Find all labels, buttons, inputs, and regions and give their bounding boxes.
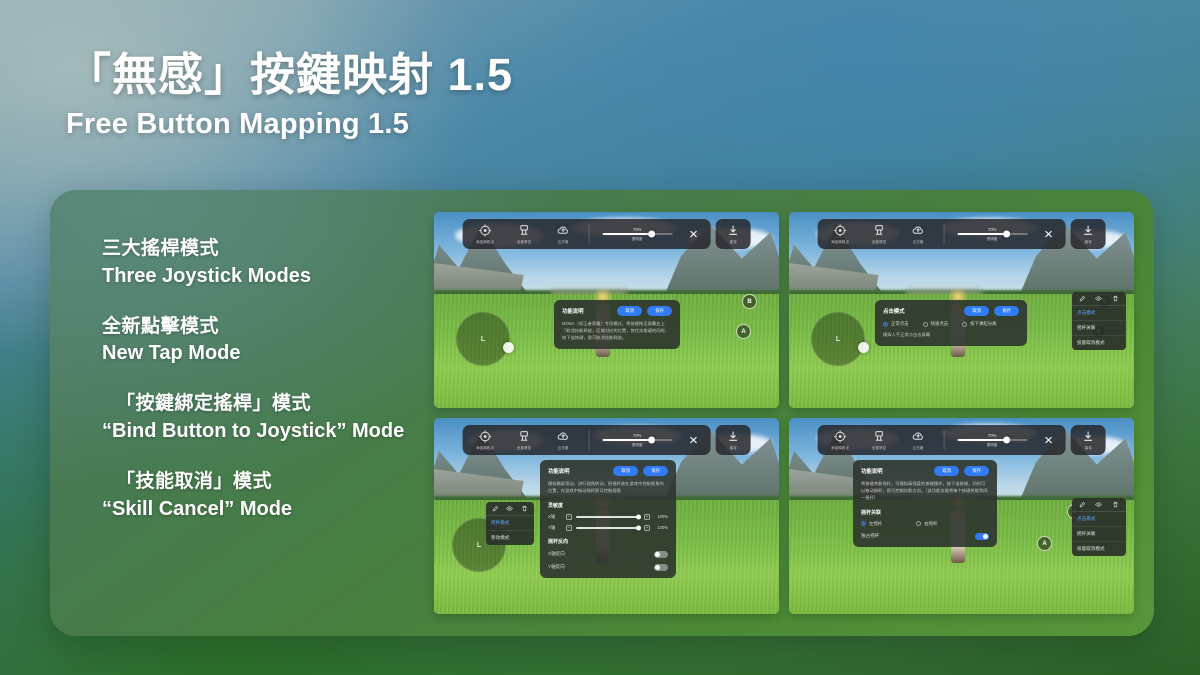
mapping-toolbar: 添加映射点 全部清空 云方案 — [462, 425, 751, 455]
clear-all-icon — [518, 224, 531, 237]
dialog-description: MOBA（如王者荣耀）专用模式，将按键拖至屏幕右上「取消技能释放」区域对应的位置… — [562, 321, 672, 342]
save-button[interactable]: 保存 — [994, 306, 1019, 316]
radio-fast-tap[interactable]: 快速点击 — [923, 321, 949, 327]
feature-label-en: Three Joystick Modes — [102, 264, 432, 288]
reverse-y-row: Y轴反向 — [548, 564, 668, 571]
sensitivity-y-value: 100% — [654, 525, 668, 530]
joystick-link-options: 左摇杆 右摇杆 — [861, 521, 989, 527]
axis-label: X轴 — [548, 514, 562, 520]
feature-label-cn: 三大搖桿模式 — [102, 236, 432, 262]
save-label: 保存 — [730, 239, 737, 244]
add-mapping-point-label: 添加映射点 — [476, 445, 494, 450]
left-joystick-label: L — [477, 542, 481, 549]
opacity-label: 透明度 — [632, 236, 643, 241]
radio-left-joystick[interactable]: 左摇杆 — [861, 521, 882, 527]
context-menu-icons — [1072, 292, 1126, 306]
cancel-button[interactable]: 取消 — [934, 466, 959, 476]
add-mapping-point-button[interactable]: 添加映射点 — [826, 430, 854, 450]
menu-item-skill-cancel-mode[interactable]: 技能取消模式 — [1072, 542, 1126, 556]
opacity-label: 透明度 — [987, 442, 998, 447]
dialog-description: 模拟触屏滑动，进行视角转动，把摇杆放在游戏中控制视角的位置，在游戏中拖动摇杆即可… — [548, 481, 668, 495]
clear-all-button[interactable]: 全部清空 — [865, 430, 893, 450]
tap-mode-dialog: 点击模式 取消 保存 正常点击 快速点击 — [875, 300, 1027, 346]
save-button[interactable]: 保存 — [647, 306, 672, 316]
cloud-scheme-icon — [557, 430, 570, 443]
sensitivity-x-row: X轴 − + 100% — [548, 514, 668, 520]
eye-icon[interactable] — [1095, 501, 1102, 508]
cloud-scheme-label: 云方案 — [558, 239, 569, 244]
clear-all-icon — [873, 430, 886, 443]
toolbar-main: 添加映射点 全部清空 云方案 — [462, 219, 711, 249]
toolbar-divider — [943, 430, 944, 450]
save-button[interactable]: 保存 — [1071, 219, 1106, 249]
add-mapping-point-label: 添加映射点 — [831, 445, 849, 450]
joystick-knob[interactable] — [503, 342, 514, 353]
opacity-value: 70% — [988, 433, 996, 438]
download-icon — [727, 224, 740, 237]
dialog-buttons: 取消 保存 — [964, 306, 1019, 316]
opacity-slider[interactable]: 70% 透明度 — [955, 433, 1029, 447]
cancel-button[interactable]: 取消 — [617, 306, 642, 316]
toolbar-divider — [588, 430, 589, 450]
radio-label: 左摇杆 — [869, 521, 882, 527]
opacity-track[interactable] — [957, 233, 1027, 235]
joystick-knob[interactable] — [858, 342, 869, 353]
dialog-header: 点击模式 取消 保存 — [883, 306, 1019, 316]
radio-dot-icon — [883, 322, 888, 327]
feature-item-joystick-modes: 三大搖桿模式 Three Joystick Modes — [102, 236, 432, 288]
page-title-en: Free Button Mapping 1.5 — [66, 108, 766, 141]
button-a[interactable]: A — [1037, 536, 1052, 551]
cloud-scheme-button[interactable]: 云方案 — [904, 224, 932, 244]
exclusive-joystick-row: 独占摇杆 — [861, 533, 989, 540]
toolbar-divider — [943, 224, 944, 244]
reverse-y-label: Y轴反向 — [548, 564, 565, 570]
add-mapping-point-label: 添加映射点 — [831, 239, 849, 244]
context-menu-icons — [486, 502, 534, 516]
radio-normal-tap[interactable]: 正常点击 — [883, 321, 909, 327]
download-icon — [727, 430, 740, 443]
feature-label-en: “Skill Cancel” Mode — [102, 497, 432, 521]
radio-label: 右摇杆 — [924, 521, 937, 527]
decrement-button[interactable]: − — [566, 514, 572, 520]
cloud-scheme-icon — [912, 224, 925, 237]
cloud-scheme-label: 云方案 — [913, 445, 924, 450]
menu-item-move-mode[interactable]: 移动模式 — [486, 531, 534, 545]
feature-label-en: “Bind Button to Joystick” Mode — [102, 419, 432, 443]
reverse-x-row: X轴反向 — [548, 551, 668, 558]
sensitivity-x-value: 100% — [654, 514, 668, 519]
clear-all-label: 全部清空 — [872, 239, 886, 244]
exclusive-joystick-label: 独占摇杆 — [861, 533, 879, 539]
clear-all-button[interactable]: 全部清空 — [865, 224, 893, 244]
left-joystick[interactable]: L — [811, 312, 865, 366]
clear-all-icon — [873, 224, 886, 237]
screenshot-bind-joystick: 添加映射点 全部清空 云方案 — [789, 418, 1134, 614]
clear-all-label: 全部清空 — [517, 239, 531, 244]
radio-label: 快速点击 — [931, 321, 949, 327]
pen-icon[interactable] — [492, 505, 499, 512]
mapping-toolbar: 添加映射点 全部清空 云方案 — [817, 219, 1106, 249]
save-button[interactable]: 保存 — [643, 466, 668, 476]
axis-label: Y轴 — [548, 525, 562, 531]
close-icon[interactable]: × — [1040, 433, 1057, 448]
left-joystick-label: L — [481, 336, 485, 343]
function-description-dialog: 功能说明 取消 保存 模拟触屏滑动，进行视角转动，把摇杆放在游戏中控制视角的位置… — [540, 460, 676, 578]
close-icon[interactable]: × — [1040, 227, 1057, 242]
cloud-scheme-button[interactable]: 云方案 — [904, 430, 932, 450]
save-label: 保存 — [1085, 445, 1092, 450]
add-mapping-point-label: 添加映射点 — [476, 239, 494, 244]
eye-icon[interactable] — [506, 505, 513, 512]
dialog-header: 功能说明 取消 保存 — [548, 466, 668, 476]
exclusive-joystick-toggle[interactable] — [975, 533, 989, 540]
sensitivity-x-track[interactable] — [576, 516, 640, 518]
opacity-track[interactable] — [602, 439, 672, 441]
feature-list: 三大搖桿模式 Three Joystick Modes 全新點擊模式 New T… — [102, 236, 432, 547]
feature-label-cn: 「技能取消」模式 — [116, 469, 432, 495]
save-button[interactable]: 保存 — [716, 219, 751, 249]
pen-icon[interactable] — [1079, 295, 1086, 302]
radio-press-release-split[interactable]: 按下弹起分离 — [962, 321, 996, 327]
save-label: 保存 — [1085, 239, 1092, 244]
add-mapping-point-icon — [479, 430, 492, 443]
opacity-label: 透明度 — [632, 442, 643, 447]
dialog-description: 将按键关联摇杆，可模拟高强度的按键操作，按下该按键，同时可以拖动摇杆，即可控制技… — [861, 481, 989, 502]
add-mapping-point-icon — [479, 224, 492, 237]
sensitivity-section-title: 灵敏度 — [548, 502, 668, 509]
feature-label-en: New Tap Mode — [102, 341, 432, 365]
tap-mode-options: 正常点击 快速点击 按下弹起分离 — [883, 321, 1019, 327]
feature-item-skill-cancel: 「技能取消」模式 “Skill Cancel” Mode — [102, 469, 432, 521]
download-icon — [1082, 224, 1095, 237]
menu-item-joystick-link[interactable]: 摇杆关联 — [1072, 321, 1126, 336]
radio-dot-icon — [923, 322, 928, 327]
clear-all-button[interactable]: 全部清空 — [510, 430, 538, 450]
opacity-track[interactable] — [602, 233, 672, 235]
sensitivity-y-track[interactable] — [576, 527, 640, 529]
increment-button[interactable]: + — [644, 525, 650, 531]
menu-item-joystick-mode[interactable]: 摇杆模式 — [486, 516, 534, 531]
close-icon[interactable]: × — [685, 227, 702, 242]
function-description-dialog: 功能说明 取消 保存 将按键关联摇杆，可模拟高强度的按键操作，按下该按键，同时可… — [853, 460, 997, 547]
context-menu-icons — [1072, 498, 1126, 512]
button-b[interactable]: B — [742, 294, 757, 309]
radio-right-joystick[interactable]: 右摇杆 — [916, 521, 937, 527]
eye-icon[interactable] — [1095, 295, 1102, 302]
menu-item-joystick-link[interactable]: 摇杆关联 — [1072, 527, 1126, 542]
increment-button[interactable]: + — [644, 514, 650, 520]
pen-icon[interactable] — [1079, 501, 1086, 508]
add-mapping-point-button[interactable]: 添加映射点 — [471, 430, 499, 450]
opacity-value: 70% — [633, 433, 641, 438]
decrement-button[interactable]: − — [566, 525, 572, 531]
opacity-slider[interactable]: 70% 透明度 — [600, 433, 674, 447]
opacity-track[interactable] — [957, 439, 1027, 441]
cancel-button[interactable]: 取消 — [613, 466, 638, 476]
cloud-scheme-label: 云方案 — [558, 445, 569, 450]
add-mapping-point-button[interactable]: 添加映射点 — [826, 224, 854, 244]
cloud-scheme-button[interactable]: 云方案 — [549, 430, 577, 450]
delete-icon[interactable] — [1112, 501, 1119, 508]
screenshot-skill-cancel: 添加映射点 全部清空 云方案 — [434, 212, 779, 408]
toolbar-main: 添加映射点 全部清空 云方案 — [817, 219, 1066, 249]
menu-item-tap-mode[interactable]: 点击模式 — [1072, 512, 1126, 527]
menu-item-skill-cancel-mode[interactable]: 技能取消模式 — [1072, 336, 1126, 350]
clear-all-label: 全部清空 — [872, 445, 886, 450]
delete-icon[interactable] — [521, 505, 528, 512]
add-mapping-point-icon — [834, 224, 847, 237]
reverse-x-toggle[interactable] — [654, 551, 668, 558]
save-button[interactable]: 保存 — [716, 425, 751, 455]
opacity-slider[interactable]: 70% 透明度 — [955, 227, 1029, 241]
toolbar-main: 添加映射点 全部清空 云方案 — [817, 425, 1066, 455]
dialog-buttons: 取消 保存 — [613, 466, 668, 476]
dialog-title: 功能说明 — [562, 307, 584, 315]
reverse-x-label: X轴反向 — [548, 551, 565, 557]
clear-all-button[interactable]: 全部清空 — [510, 224, 538, 244]
save-button[interactable]: 保存 — [1071, 425, 1106, 455]
cloud-scheme-button[interactable]: 云方案 — [549, 224, 577, 244]
clear-all-label: 全部清空 — [517, 445, 531, 450]
feature-card: 三大搖桿模式 Three Joystick Modes 全新點擊模式 New T… — [50, 190, 1154, 636]
reverse-section-title: 摇杆反向 — [548, 538, 668, 545]
dialog-title: 功能说明 — [548, 467, 570, 475]
feature-item-bind-button: 「按鍵綁定搖桿」模式 “Bind Button to Joystick” Mod… — [102, 391, 432, 443]
radio-dot-icon — [962, 322, 967, 327]
clear-all-icon — [518, 430, 531, 443]
joystick-context-menu: 摇杆模式 移动模式 — [486, 502, 534, 545]
radio-label: 按下弹起分离 — [970, 321, 996, 327]
feature-label-cn: 「按鍵綁定搖桿」模式 — [116, 391, 432, 417]
add-mapping-point-icon — [834, 430, 847, 443]
mapping-context-menu: 点击模式 摇杆关联 技能取消模式 — [1072, 292, 1126, 350]
download-icon — [1082, 430, 1095, 443]
cancel-button[interactable]: 取消 — [964, 306, 989, 316]
left-joystick[interactable]: L — [456, 312, 510, 366]
page-title-cn: 「無感」按鍵映射 1.5 — [66, 50, 766, 100]
mapping-toolbar: 添加映射点 全部清空 云方案 — [817, 425, 1106, 455]
dialog-description: 模拟人手正常点击去屏幕 — [883, 332, 1019, 339]
screenshot-grid: 添加映射点 全部清空 云方案 — [434, 212, 1134, 614]
dialog-header: 功能说明 取消 保存 — [562, 306, 672, 316]
add-mapping-point-button[interactable]: 添加映射点 — [471, 224, 499, 244]
opacity-slider[interactable]: 70% 透明度 — [600, 227, 674, 241]
save-label: 保存 — [730, 445, 737, 450]
save-button[interactable]: 保存 — [964, 466, 989, 476]
radio-dot-icon — [861, 521, 866, 526]
function-description-dialog: 功能说明 取消 保存 MOBA（如王者荣耀）专用模式，将按键拖至屏幕右上「取消技… — [554, 300, 680, 349]
feature-item-tap-mode: 全新點擊模式 New Tap Mode — [102, 314, 432, 366]
joystick-link-section-title: 摇杆关联 — [861, 509, 989, 516]
mapping-toolbar: 添加映射点 全部清空 云方案 — [462, 219, 751, 249]
dialog-header: 功能说明 取消 保存 — [861, 466, 989, 476]
radio-label: 正常点击 — [891, 321, 909, 327]
left-joystick-label: L — [836, 336, 840, 343]
menu-item-tap-mode[interactable]: 点击模式 — [1072, 306, 1126, 321]
toolbar-main: 添加映射点 全部清空 云方案 — [462, 425, 711, 455]
cloud-scheme-label: 云方案 — [913, 239, 924, 244]
mapping-context-menu: 点击模式 摇杆关联 技能取消模式 — [1072, 498, 1126, 556]
feature-label-cn: 全新點擊模式 — [102, 314, 432, 340]
delete-icon[interactable] — [1112, 295, 1119, 302]
opacity-value: 70% — [988, 227, 996, 232]
opacity-value: 70% — [633, 227, 641, 232]
cloud-scheme-icon — [557, 224, 570, 237]
screenshot-tap-mode: 添加映射点 全部清空 云方案 — [789, 212, 1134, 408]
close-icon[interactable]: × — [685, 433, 702, 448]
dialog-title: 功能说明 — [861, 467, 883, 475]
dialog-title: 点击模式 — [883, 307, 905, 315]
reverse-y-toggle[interactable] — [654, 564, 668, 571]
opacity-label: 透明度 — [987, 236, 998, 241]
page-header: 「無感」按鍵映射 1.5 Free Button Mapping 1.5 — [66, 50, 766, 141]
dialog-buttons: 取消 保存 — [617, 306, 672, 316]
dialog-buttons: 取消 保存 — [934, 466, 989, 476]
button-a[interactable]: A — [736, 324, 751, 339]
radio-dot-icon — [916, 521, 921, 526]
screenshot-joystick-mode: 添加映射点 全部清空 云方案 — [434, 418, 779, 614]
toolbar-divider — [588, 224, 589, 244]
sensitivity-y-row: Y轴 − + 100% — [548, 525, 668, 531]
cloud-scheme-icon — [912, 430, 925, 443]
